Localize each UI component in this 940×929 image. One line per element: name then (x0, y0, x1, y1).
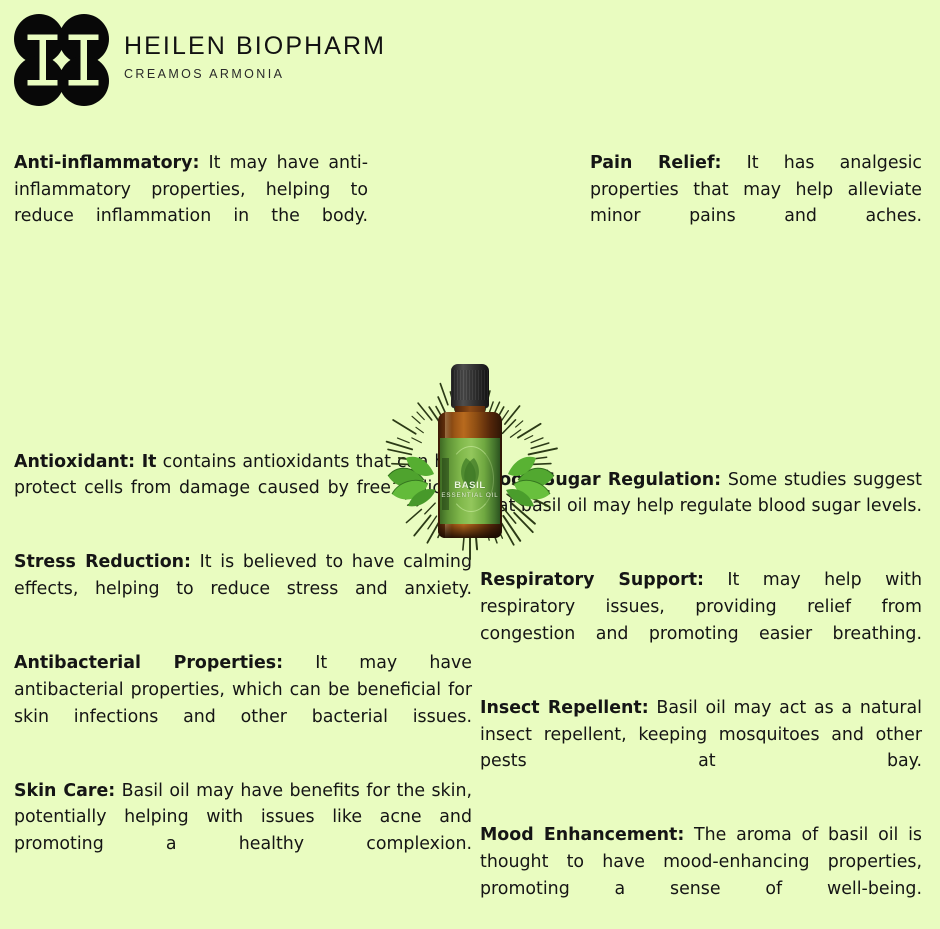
artwork-text-wrap-left (368, 150, 472, 400)
benefit-term: Insect Repellent: (480, 698, 649, 718)
heilen-biopharm-logo-icon (14, 14, 112, 106)
brand-header: HEILEN BIOPHARM CREAMOS ARMONIA (14, 14, 386, 106)
benefits-column-left: Anti-inflammatory: It may have anti-infl… (14, 150, 472, 884)
brand-name: HEILEN BIOPHARM (124, 34, 386, 59)
benefit-term: Anti-inflammatory: (14, 153, 199, 173)
benefit-term: Antibacterial Properties: (14, 653, 283, 673)
benefits-content: Anti-inflammatory: It may have anti-infl… (0, 150, 940, 780)
artwork-text-wrap-right (480, 150, 590, 418)
benefit-term: Pain Relief: (590, 153, 721, 173)
benefits-column-right: Pain Relief: It has analgesic properties… (480, 150, 922, 929)
benefit-item: Antioxidant: It contains antioxidants th… (14, 449, 472, 529)
benefit-term: Blood Sugar Regulation: (480, 470, 721, 490)
benefit-item: Blood Sugar Regulation: Some studies sug… (480, 467, 922, 547)
benefit-item: Mood Enhancement: The aroma of basil oil… (480, 822, 922, 929)
brand-wordmark: HEILEN BIOPHARM CREAMOS ARMONIA (124, 34, 386, 87)
benefit-term: Antioxidant: It (14, 452, 157, 472)
benefit-item: Insect Repellent: Basil oil may act as a… (480, 695, 922, 802)
benefit-term: Respiratory Support: (480, 570, 704, 590)
benefit-term: Stress Reduction: (14, 552, 191, 572)
benefit-item: Antibacterial Properties: It may have an… (14, 650, 472, 757)
benefit-item: Skin Care: Basil oil may have benefits f… (14, 778, 472, 885)
benefit-term: Mood Enhancement: (480, 825, 684, 845)
benefit-item: Respiratory Support: It may help with re… (480, 567, 922, 674)
benefit-term: Skin Care: (14, 781, 115, 801)
benefit-item: Stress Reduction: It is believed to have… (14, 549, 472, 629)
brand-tagline: CREAMOS ARMONIA (124, 68, 386, 81)
